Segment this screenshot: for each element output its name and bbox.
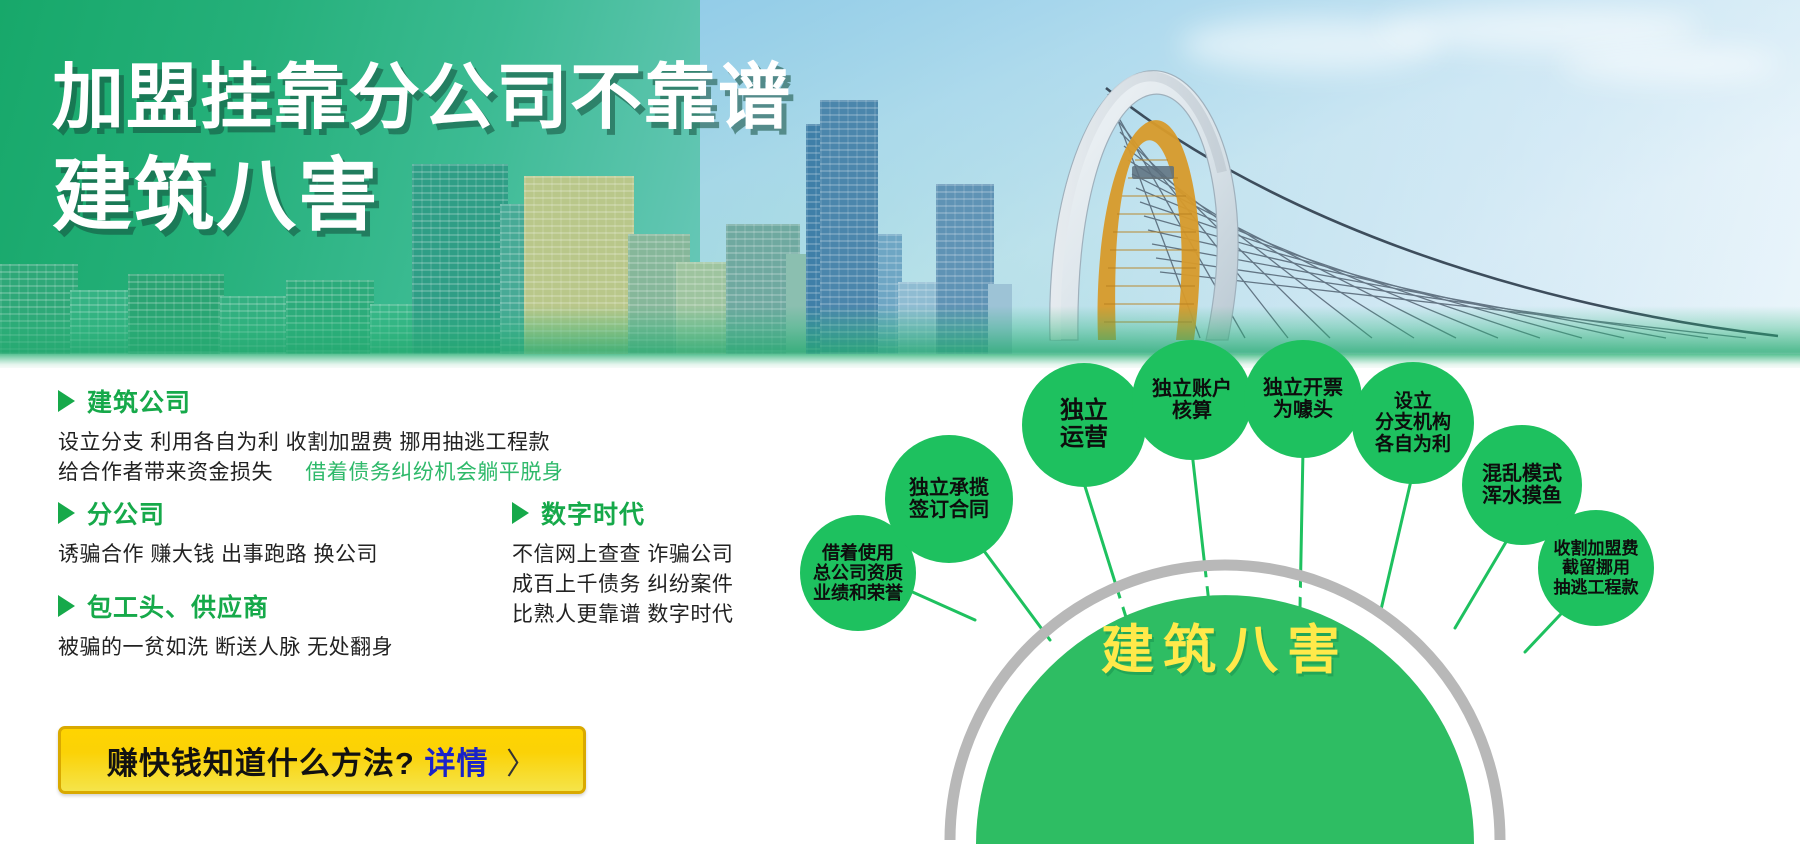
hero-title-line2: 建筑八害 bbox=[52, 156, 792, 236]
section-line-text: 比熟人更靠谱 数字时代 bbox=[512, 603, 733, 626]
section-title: 数字时代 bbox=[541, 495, 645, 531]
hero-title-line1: 加盟挂靠分公司不靠谱 bbox=[52, 62, 792, 134]
section-line: 给合作者带来资金损失 借着债务纠纷机会躺平脱身 bbox=[58, 458, 563, 488]
bubble-line: 抽逃工程款 bbox=[1554, 578, 1639, 597]
bubble-line: 独立 bbox=[1060, 397, 1108, 424]
chevron-right-icon: 〉 bbox=[506, 748, 537, 781]
section-line-text: 成百上千债务 纠纷案件 bbox=[512, 573, 733, 596]
section-line-text: 不信网上查查 诈骗公司 bbox=[512, 543, 733, 566]
bubble-independent-account[interactable]: 独立账户 核算 bbox=[1132, 340, 1252, 460]
bubble-independent-operation[interactable]: 独立 运营 bbox=[1022, 363, 1146, 487]
section-header: 包工头、供应商 bbox=[58, 588, 393, 624]
bubble-line: 收割加盟费 bbox=[1554, 539, 1639, 558]
bubble-line: 借着使用 bbox=[822, 543, 894, 563]
section-header: 数字时代 bbox=[512, 495, 733, 531]
cta-label: 赚快钱知道什么方法? 详情 〉 bbox=[107, 738, 537, 783]
connector-line bbox=[1380, 472, 1413, 614]
bubble-line: 设立 bbox=[1394, 391, 1432, 412]
bubble-line: 浑水摸鱼 bbox=[1482, 485, 1562, 507]
poster-root: 加盟挂靠分公司不靠谱 建筑八害 建筑公司 设立分支 利用各自为利 收割加盟费 挪… bbox=[0, 0, 1800, 844]
section-digital-era: 数字时代 不信网上查查 诈骗公司 成百上千债务 纠纷案件 比熟人更靠谱 数字时代 bbox=[512, 495, 733, 629]
section-line-text: 诱骗合作 赚大钱 出事跑路 换公司 bbox=[58, 543, 378, 566]
details-cta-button[interactable]: 赚快钱知道什么方法? 详情 〉 bbox=[58, 726, 586, 794]
section-header: 建筑公司 bbox=[58, 383, 563, 419]
bubble-line: 独立开票 bbox=[1263, 377, 1343, 399]
hero-title-block: 加盟挂靠分公司不靠谱 建筑八害 bbox=[52, 62, 792, 236]
section-line-text: 被骗的一贫如洗 断送人脉 无处翻身 bbox=[58, 636, 393, 659]
bubble-line: 总公司资质 bbox=[813, 563, 903, 583]
bajhai-diagram: 建筑八害 借着使用 总公司资质 业绩和荣誉 独立承揽 签订合同 独立 运营 独立… bbox=[800, 340, 1800, 844]
section-line: 成百上千债务 纠纷案件 bbox=[512, 570, 733, 600]
section-line: 比熟人更靠谱 数字时代 bbox=[512, 600, 733, 630]
section-construction-company: 建筑公司 设立分支 利用各自为利 收割加盟费 挪用抽逃工程款 给合作者带来资金损… bbox=[58, 383, 563, 488]
section-line: 设立分支 利用各自为利 收割加盟费 挪用抽逃工程款 bbox=[58, 428, 563, 458]
bubble-line: 各自为利 bbox=[1375, 434, 1451, 455]
bubble-line: 运营 bbox=[1060, 424, 1108, 451]
section-line-text: 给合作者带来资金损失 bbox=[58, 461, 273, 484]
bubble-setup-branch[interactable]: 设立 分支机构 各自为利 bbox=[1352, 362, 1474, 484]
cloud-shape bbox=[1380, 6, 1700, 52]
section-title: 分公司 bbox=[87, 495, 165, 531]
dome-label: 建筑八害 bbox=[975, 608, 1475, 684]
section-branch-company: 分公司 诱骗合作 赚大钱 出事跑路 换公司 bbox=[58, 495, 378, 570]
connector-line bbox=[1192, 452, 1210, 612]
section-title: 建筑公司 bbox=[87, 383, 191, 419]
bubble-harvest-franchise-fee[interactable]: 收割加盟费 截留挪用 抽逃工程款 bbox=[1538, 510, 1654, 626]
connector-line bbox=[1300, 450, 1303, 608]
section-line: 被骗的一贫如洗 断送人脉 无处翻身 bbox=[58, 633, 393, 663]
cta-question: 赚快钱知道什么方法? bbox=[107, 746, 415, 781]
triangle-bullet-icon bbox=[58, 502, 75, 524]
bubble-line: 截留挪用 bbox=[1562, 558, 1630, 577]
section-line: 不信网上查查 诈骗公司 bbox=[512, 540, 733, 570]
triangle-bullet-icon bbox=[512, 502, 529, 524]
triangle-bullet-icon bbox=[58, 390, 75, 412]
bubble-line: 为噱头 bbox=[1273, 399, 1333, 421]
bubble-independent-contract[interactable]: 独立承揽 签订合同 bbox=[885, 435, 1013, 563]
section-contractor-supplier: 包工头、供应商 被骗的一贫如洗 断送人脉 无处翻身 bbox=[58, 588, 393, 663]
section-title: 包工头、供应商 bbox=[87, 588, 269, 624]
bubble-line: 独立账户 bbox=[1152, 378, 1232, 400]
bubble-line: 核算 bbox=[1172, 400, 1212, 422]
bubble-independent-invoice[interactable]: 独立开票 为噱头 bbox=[1244, 340, 1362, 458]
hero-banner: 加盟挂靠分公司不靠谱 建筑八害 bbox=[0, 0, 1800, 368]
section-line-text: 设立分支 利用各自为利 收割加盟费 挪用抽逃工程款 bbox=[58, 431, 550, 454]
cta-link-label[interactable]: 详情 bbox=[424, 746, 488, 781]
bubble-line: 独立承揽 bbox=[909, 477, 989, 499]
section-line-highlight: 借着债务纠纷机会躺平脱身 bbox=[305, 461, 563, 484]
section-line: 诱骗合作 赚大钱 出事跑路 换公司 bbox=[58, 540, 378, 570]
section-header: 分公司 bbox=[58, 495, 378, 531]
bubble-line: 签订合同 bbox=[909, 499, 989, 521]
bubble-line: 分支机构 bbox=[1375, 412, 1451, 433]
bubble-line: 混乱模式 bbox=[1482, 463, 1562, 485]
triangle-bullet-icon bbox=[58, 595, 75, 617]
bubble-line: 业绩和荣誉 bbox=[813, 583, 903, 603]
